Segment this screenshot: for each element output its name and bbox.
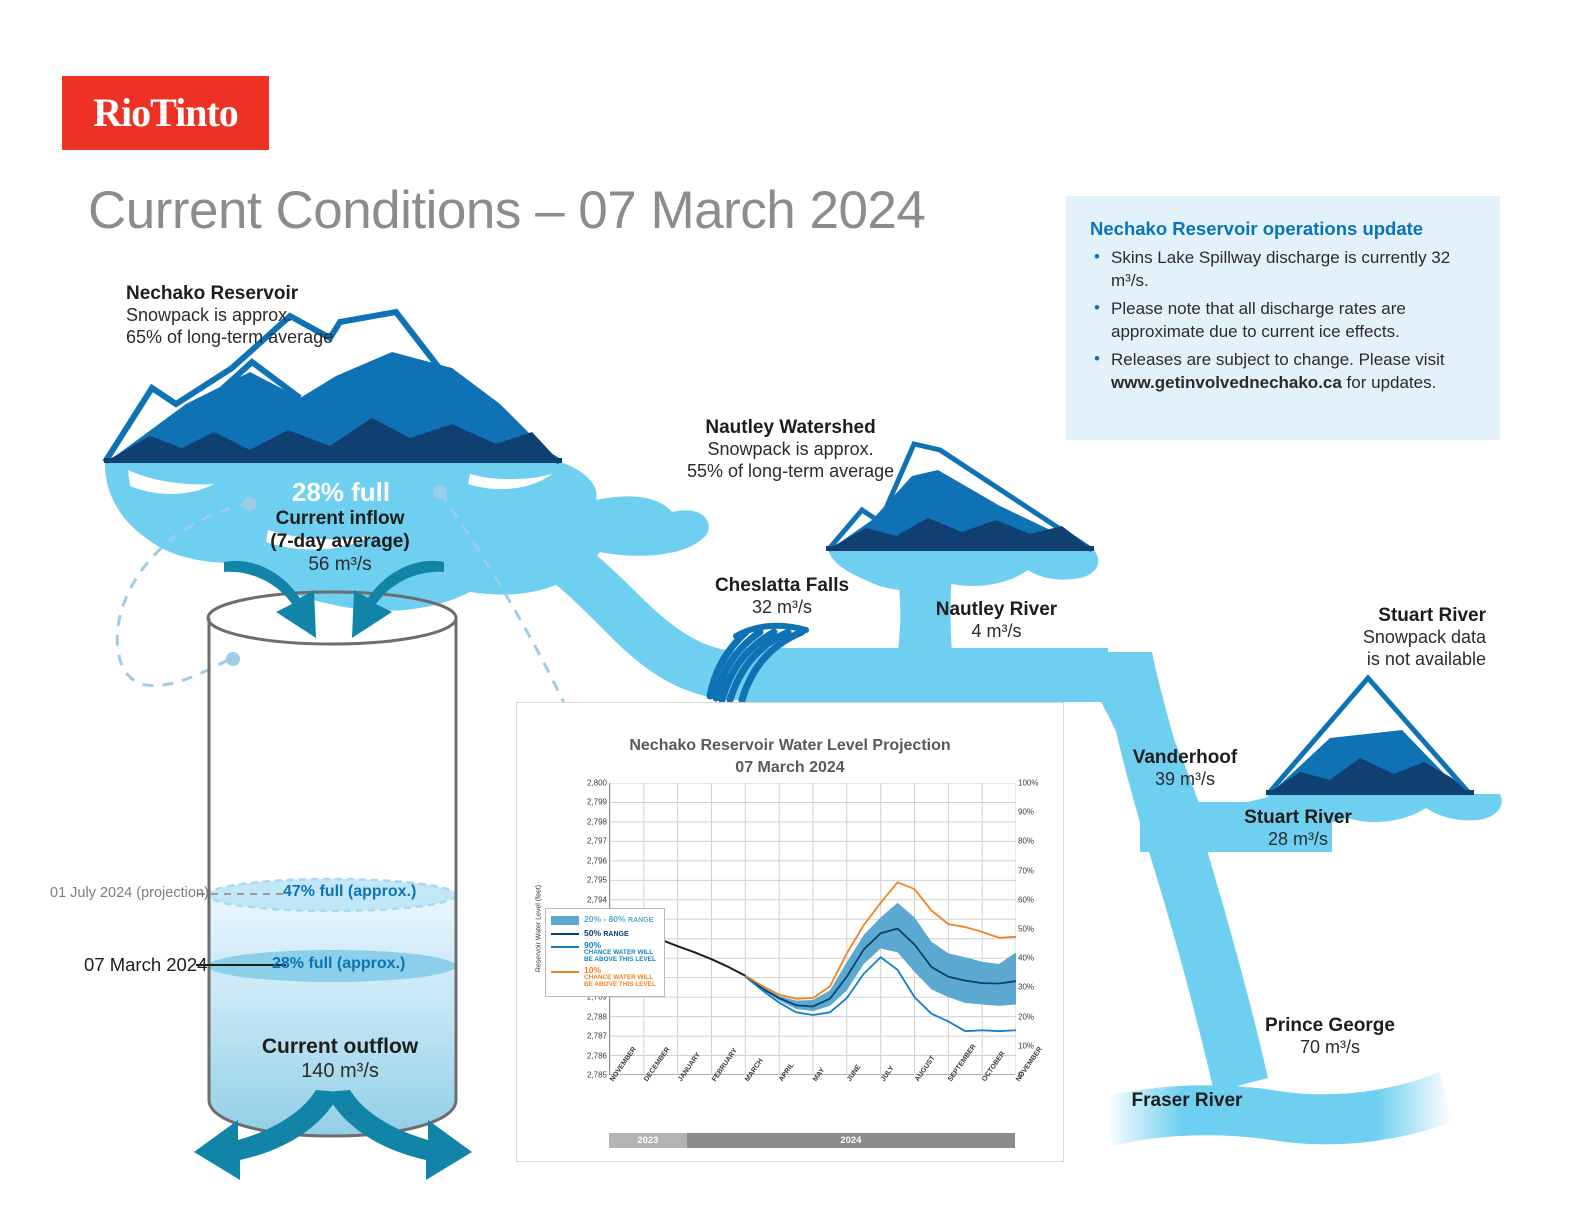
- legend-band-text: 20% - 80%: [584, 914, 628, 924]
- projection-date-tick-label: 01 July 2024 (projection): [50, 885, 209, 901]
- legend-band-small: RANGE: [628, 917, 653, 924]
- outflow-value: 140 m³/s: [215, 1059, 465, 1083]
- y-tick-label: 2,799: [587, 798, 607, 807]
- legend-90-swatch: [551, 946, 579, 948]
- inflow-value: 56 m³/s: [218, 554, 462, 577]
- cheslatta-falls-label: Cheslatta Falls 32 m³/s: [707, 574, 857, 619]
- y2-tick-label: 40%: [1018, 954, 1034, 963]
- legend-50-label: 50% RANGE: [584, 928, 629, 938]
- nautley-line2: 55% of long-term average: [687, 461, 894, 483]
- y-tick-label: 2,785: [587, 1071, 607, 1080]
- y-tick-label: 2,800: [587, 779, 607, 788]
- y2-tick-label: 30%: [1018, 983, 1034, 992]
- nechako-website-link[interactable]: www.getinvolvednechako.ca: [1111, 373, 1342, 392]
- stuart-title: Stuart River: [1310, 604, 1486, 627]
- legend-item-50: 50% RANGE: [551, 928, 659, 938]
- current-inflow-label: Current inflow (7-day average) 56 m³/s: [218, 508, 462, 576]
- y2-tick-label: 80%: [1018, 837, 1034, 846]
- current-outflow-label: Current outflow 140 m³/s: [215, 1034, 465, 1083]
- y2-tick-label: 60%: [1018, 895, 1034, 904]
- y-tick-label: 2,786: [587, 1051, 607, 1060]
- reservoir-percent-full-banner: 28% full: [237, 477, 445, 508]
- y-tick-label: 2,796: [587, 856, 607, 865]
- water-level-projection-chart-card: Nechako Reservoir Water Level Projection…: [516, 702, 1064, 1162]
- y-tick-label: 2,787: [587, 1032, 607, 1041]
- operations-update-box: Nechako Reservoir operations update Skin…: [1066, 196, 1500, 440]
- y-tick-label: 2,795: [587, 876, 607, 885]
- nautley-river-name: Nautley River: [924, 598, 1069, 621]
- y-tick-label: 2,788: [587, 1012, 607, 1021]
- y2-tick-label: 70%: [1018, 866, 1034, 875]
- vanderhoof-label: Vanderhoof 39 m³/s: [1120, 746, 1250, 791]
- page-title: Current Conditions – 07 March 2024: [88, 180, 925, 241]
- chart-y2-axis-ticks: 100%90%80%70%60%50%40%30%20%10%0: [1018, 783, 1060, 1075]
- chart-title-line1: Nechako Reservoir Water Level Projection: [517, 735, 1063, 757]
- legend-10-label: 10%CHANCE WATER WILL BE ABOVE THIS LEVEL: [584, 966, 659, 988]
- fraser-river-name: Fraser River: [1122, 1089, 1252, 1112]
- list-item: Skins Lake Spillway discharge is current…: [1090, 247, 1476, 292]
- stuart-line1: Snowpack data: [1310, 627, 1486, 649]
- chart-year-bands: 20232024: [609, 1133, 1015, 1148]
- y2-tick-label: 90%: [1018, 808, 1034, 817]
- list-item: Please note that all discharge rates are…: [1090, 298, 1476, 343]
- nautley-title: Nautley Watershed: [687, 416, 894, 439]
- chart-plot-area: [609, 783, 1015, 1075]
- nechako-line2: 65% of long-term average: [126, 327, 333, 349]
- legend-band-label: 20% - 80% RANGE: [584, 914, 653, 924]
- bullet3-prefix: Releases are subject to change. Please v…: [1111, 350, 1445, 369]
- legend-90-label: 90%CHANCE WATER WILL BE ABOVE THIS LEVEL: [584, 941, 659, 963]
- rio-tinto-logo: RioTinto: [62, 76, 269, 150]
- inflow-line1: Current inflow: [218, 508, 462, 531]
- chart-x-axis-ticks: NOVEMBERDECEMBERJANUARYFEBRUARYMARCHAPRI…: [609, 1079, 1015, 1131]
- legend-10-swatch: [551, 971, 579, 973]
- legend-item-10: 10%CHANCE WATER WILL BE ABOVE THIS LEVEL: [551, 966, 659, 988]
- y2-tick-label: 10%: [1018, 1041, 1034, 1050]
- y2-tick-label: 50%: [1018, 925, 1034, 934]
- chart-y-axis-label: Reservoir Water Level (feet): [536, 885, 543, 972]
- stuart-river-flow-label: Stuart River 28 m³/s: [1228, 806, 1368, 851]
- year-band: 2024: [687, 1133, 1015, 1148]
- chart-series-svg: [610, 783, 1016, 1075]
- cheslatta-falls-name: Cheslatta Falls: [707, 574, 857, 597]
- prince-george-label: Prince George 70 m³/s: [1250, 1014, 1410, 1059]
- current-level-label: 28% full (approx.): [272, 955, 405, 973]
- bullet3-suffix: for updates.: [1342, 373, 1437, 392]
- stuart-river-value: 28 m³/s: [1228, 829, 1368, 851]
- nautley-watershed-label: Nautley Watershed Snowpack is approx. 55…: [687, 416, 894, 483]
- y2-tick-label: 20%: [1018, 1012, 1034, 1021]
- list-item: Releases are subject to change. Please v…: [1090, 349, 1476, 394]
- chart-plot-wrapper: Reservoir Water Level (feet) 2,8002,7992…: [517, 775, 1065, 1163]
- inflow-line2: (7-day average): [218, 531, 462, 554]
- legend-90-small: CHANCE WATER WILL BE ABOVE THIS LEVEL: [584, 950, 659, 963]
- legend-band-swatch: [551, 916, 579, 925]
- vanderhoof-value: 39 m³/s: [1120, 769, 1250, 791]
- stuart-river-name: Stuart River: [1228, 806, 1368, 829]
- legend-item-90: 90%CHANCE WATER WILL BE ABOVE THIS LEVEL: [551, 941, 659, 963]
- stuart-mountain-icon: [1266, 678, 1474, 795]
- prince-george-value: 70 m³/s: [1250, 1037, 1410, 1059]
- stuart-watershed-label: Stuart River Snowpack data is not availa…: [1310, 604, 1486, 671]
- legend-50-small: RANGE: [603, 931, 628, 938]
- outflow-line1: Current outflow: [215, 1034, 465, 1059]
- nechako-watershed-label: Nechako Reservoir Snowpack is approx. 65…: [126, 282, 333, 349]
- legend-50-text: 50%: [584, 928, 603, 938]
- vanderhoof-name: Vanderhoof: [1120, 746, 1250, 769]
- nechako-title: Nechako Reservoir: [126, 282, 333, 305]
- y-tick-label: 2,798: [587, 817, 607, 826]
- legend-item-band: 20% - 80% RANGE: [551, 914, 659, 925]
- logo-wordmark: RioTinto: [93, 93, 238, 133]
- fraser-river-label: Fraser River: [1122, 1089, 1252, 1112]
- y-tick-label: 2,797: [587, 837, 607, 846]
- projection-level-label: 47% full (approx.): [283, 883, 416, 901]
- prince-george-name: Prince George: [1250, 1014, 1410, 1037]
- y-tick-label: 2,794: [587, 895, 607, 904]
- nautley-river-value: 4 m³/s: [924, 621, 1069, 643]
- operations-update-heading: Nechako Reservoir operations update: [1090, 218, 1476, 240]
- legend-50-swatch: [551, 933, 579, 935]
- nautley-lake-shape: [828, 548, 1098, 590]
- y2-tick-label: 100%: [1018, 779, 1038, 788]
- stuart-line2: is not available: [1310, 649, 1486, 671]
- chart-legend: 20% - 80% RANGE 50% RANGE 90%CHANCE WATE…: [545, 908, 665, 997]
- nautley-river-label: Nautley River 4 m³/s: [924, 598, 1069, 643]
- nautley-line1: Snowpack is approx.: [687, 439, 894, 461]
- operations-update-list: Skins Lake Spillway discharge is current…: [1090, 247, 1476, 395]
- nechako-line1: Snowpack is approx.: [126, 305, 333, 327]
- legend-10-small: CHANCE WATER WILL BE ABOVE THIS LEVEL: [584, 975, 659, 988]
- current-date-tick-label: 07 March 2024: [84, 954, 207, 976]
- year-band: 2023: [609, 1133, 687, 1148]
- cheslatta-falls-value: 32 m³/s: [707, 597, 857, 619]
- chart-title: Nechako Reservoir Water Level Projection…: [517, 735, 1063, 778]
